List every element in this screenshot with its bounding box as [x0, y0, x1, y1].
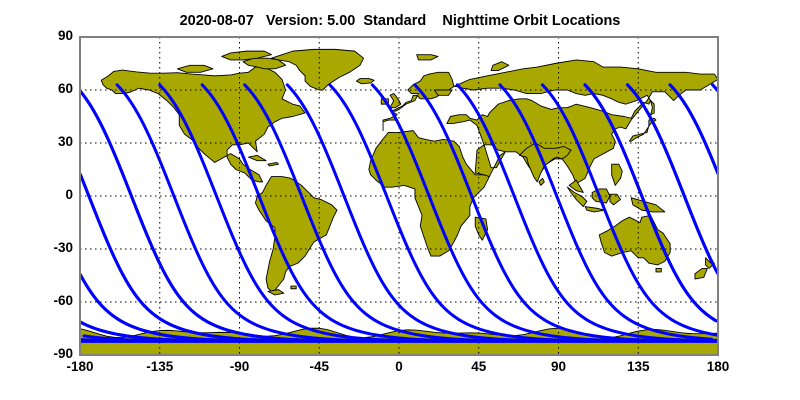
landmass-scandinavia-extra [434, 90, 452, 95]
y-tick-label: 90 [58, 28, 73, 43]
y-tick-label: 0 [65, 187, 73, 202]
x-tick-label: 90 [529, 359, 589, 374]
y-tick-label: 60 [58, 81, 73, 96]
x-tick-label: 180 [688, 359, 748, 374]
x-tick-label: -45 [289, 359, 349, 374]
y-tick-label: -60 [53, 293, 73, 308]
x-tick-label: 0 [369, 359, 429, 374]
x-tick-label: -180 [50, 359, 110, 374]
landmass-falkland [291, 286, 296, 289]
x-tick-label: -90 [210, 359, 270, 374]
x-tick-label: 135 [608, 359, 668, 374]
landmass-tasmania [656, 268, 661, 272]
orbit-map-figure [0, 0, 800, 400]
y-tick-label: 30 [58, 134, 73, 149]
x-tick-label: 45 [449, 359, 509, 374]
y-tick-label: -30 [53, 240, 73, 255]
x-tick-label: -135 [130, 359, 190, 374]
